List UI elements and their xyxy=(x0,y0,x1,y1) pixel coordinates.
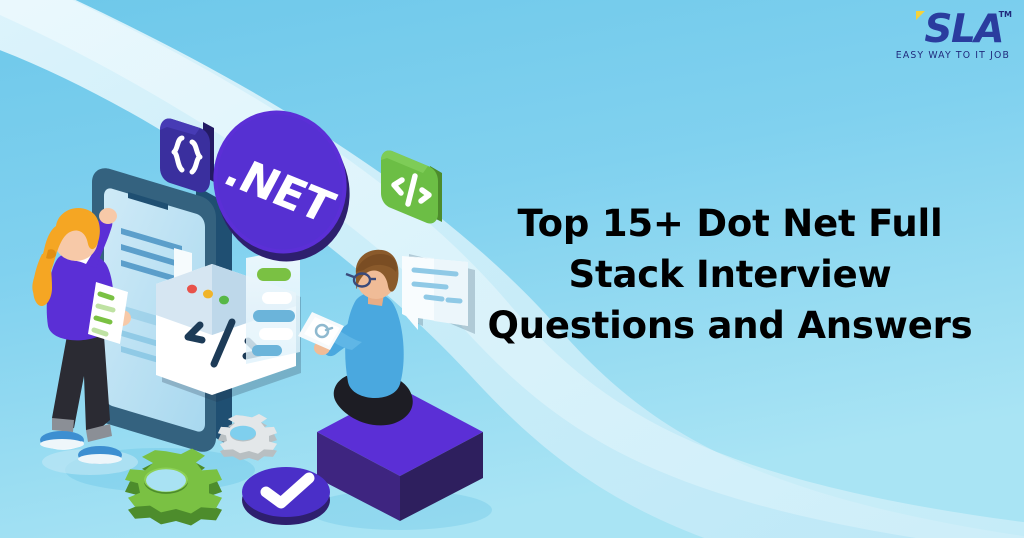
logo-mark: SLA TM xyxy=(888,8,1012,52)
window-dot-red xyxy=(187,285,197,294)
trademark-mark: TM xyxy=(999,10,1012,19)
task-card xyxy=(246,248,300,364)
banner-root: .NET xyxy=(0,0,1024,538)
code-tag-badge xyxy=(381,150,442,223)
title-line-2: Stack Interview xyxy=(452,249,1008,300)
card-pill-green xyxy=(257,268,291,281)
title-line-3: Questions and Answers xyxy=(452,300,1008,351)
page-title: Top 15+ Dot Net Full Stack Interview Que… xyxy=(452,198,1008,351)
window-dot-yellow xyxy=(203,290,213,299)
logo-wordmark-text: SLA xyxy=(924,7,1003,52)
title-line-1: Top 15+ Dot Net Full xyxy=(452,198,1008,249)
hand-upper xyxy=(99,208,117,224)
window-dot-green xyxy=(219,296,229,305)
logo-accent-triangle-icon xyxy=(916,11,925,20)
brand-logo[interactable]: SLA TM EASY WAY TO IT JOB xyxy=(888,8,1012,80)
curly-braces-badge xyxy=(160,117,214,192)
check-coin xyxy=(242,467,330,525)
man-on-cube xyxy=(298,250,413,426)
